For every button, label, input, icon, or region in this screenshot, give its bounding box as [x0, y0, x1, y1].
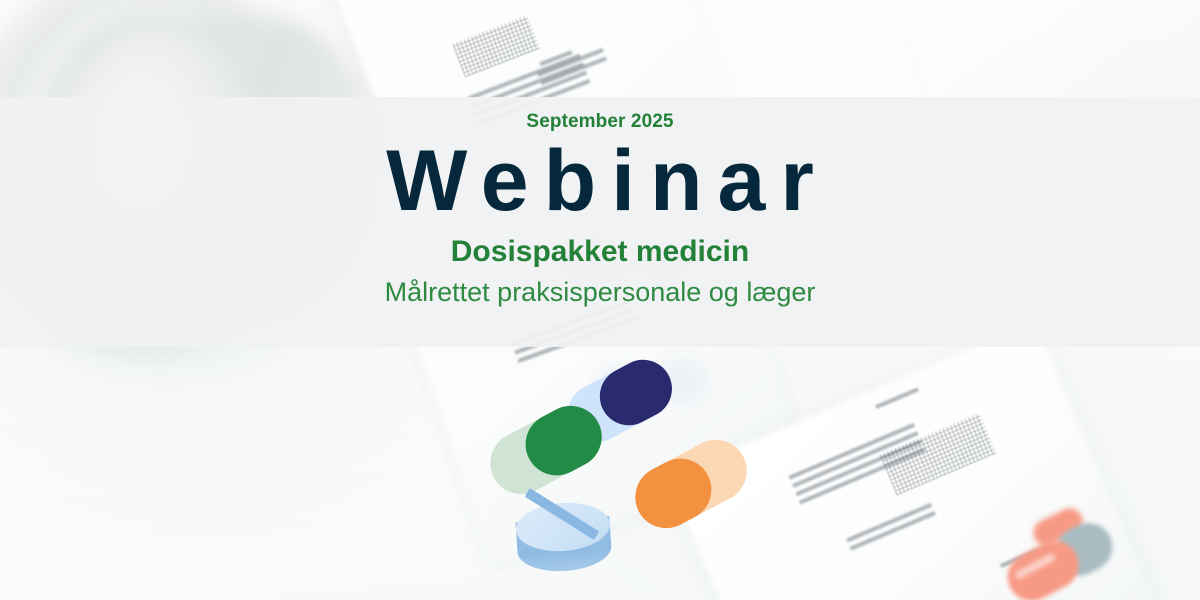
scored-tablet [514, 500, 613, 586]
page-title: Webinar [371, 135, 829, 228]
event-date: September 2025 [526, 112, 673, 133]
headline-block: September 2025 Webinar Dosispakket medic… [0, 97, 1200, 347]
webinar-banner: September 2025 Webinar Dosispakket medic… [0, 0, 1200, 600]
event-subtitle: Dosispakket medicin [451, 234, 749, 270]
event-audience: Målrettet praksispersonale og læger [385, 276, 816, 310]
